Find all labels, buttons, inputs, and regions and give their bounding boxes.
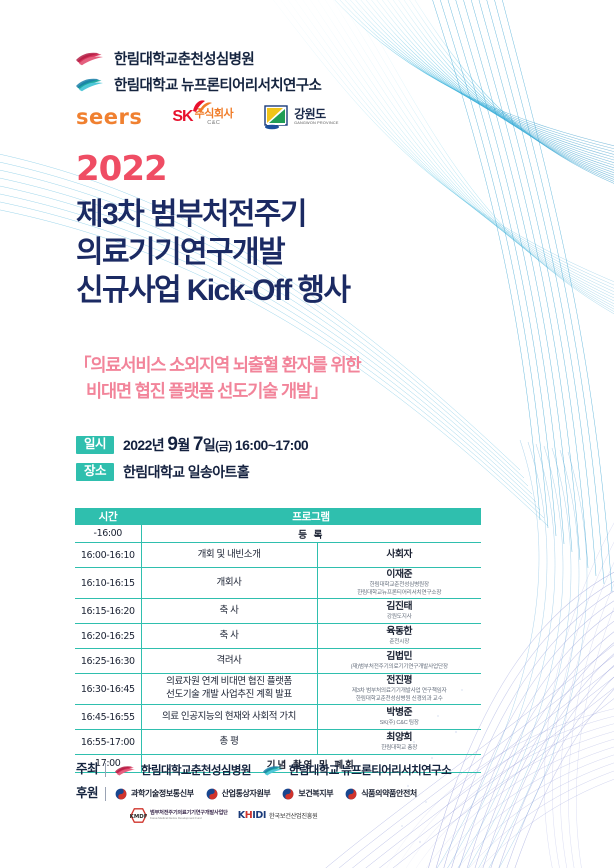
khidi-logo: KHIDI 한국보건산업진흥원 [238,810,318,821]
footer-sponsor-items: 과학기술정보통신부산업통상자원부보건복지부식품의약품안전처 [115,788,417,800]
sk-mark-label: SK [172,108,192,126]
newfrontier-swoosh-icon [76,77,106,92]
speaker-affiliation: 한림대학교춘천성심병원 신경외과 교수 [318,696,482,703]
kmdf-en-label: Korea Medical Device Development Fund [150,817,228,820]
footer-sponsor-name: 산업통상자원부 [222,788,271,799]
footer-host-name: 한림대학교춘천성심병원 [141,762,251,778]
footer-sponsor-item: 보건복지부 [282,788,333,800]
gangwon-emblem-icon [263,104,289,130]
speaker-affiliation: 한림대학교뉴프론티어리서치연구소장 [318,590,482,597]
speaker-affiliation: 한림대학교 총장 [318,745,482,752]
event-info: 일시 2022년 9월 7일(금) 16:00~17:00 장소 한림대학교 일… [76,434,308,488]
cell-time: 16:25-16:30 [75,649,141,674]
speaker-name: 이재준 [318,569,482,581]
table-row: -16:00등 록 [75,525,481,543]
poster-root: 한림대학교춘천성심병원 한림대학교 뉴프론티어리서치연구소 seers SK [0,0,614,868]
host-logo-item: 한림대학교 뉴프론티어리서치연구소 [76,74,321,95]
title-line-3: 신규사업 Kick-Off 행사 [76,272,349,310]
cell-speaker: 박병준SK(주) C&C 팀장 [317,705,481,730]
footer-sponsor-row: 후원 과학기술정보통신부산업통상자원부보건복지부식품의약품안전처 [76,787,546,801]
column-header-time: 시간 [75,509,141,525]
footer-sponsor-name: 과학기술정보통신부 [131,788,194,799]
kmdf-logo: KMDF 범부처전주기의료기기연구개발사업단 Korea Medical Dev… [130,808,228,823]
speaker-name: 최양희 [318,732,482,744]
event-place-row: 장소 한림대학교 일송아트홀 [76,462,308,482]
cell-speaker: 김진태강원도지사 [317,599,481,624]
date-tag-badge: 일시 [76,436,114,455]
cell-program: 격려사 [141,649,317,674]
government-taegeuk-icon [206,788,218,800]
cell-time: 16:30-16:45 [75,674,141,705]
date-day: 7 [193,434,203,455]
host-logo-label: 한림대학교춘천성심병원 [114,48,254,69]
cell-time: 16:55-17:00 [75,730,141,755]
speaker-affiliation: 춘천시장 [318,639,482,646]
event-date-row: 일시 2022년 9월 7일(금) 16:00~17:00 [76,434,308,456]
footer-agency-row: KMDF 범부처전주기의료기기연구개발사업단 Korea Medical Dev… [130,808,546,823]
date-day-unit: 일 [203,437,215,453]
government-taegeuk-icon [345,788,357,800]
footer-host-name: 한림대학교 뉴프론티어리서치연구소 [289,762,451,778]
cell-time: 16:10-16:15 [75,568,141,599]
footer-host-row: 주최 한림대학교춘천성심병원 [76,762,546,778]
footer-sponsor-item: 산업통상자원부 [206,788,271,800]
table-row: 16:15-16:20축 사김진태강원도지사 [75,599,481,624]
speaker-name: 김진태 [318,601,482,613]
sk-butterfly-icon [191,99,213,113]
footer: 주최 한림대학교춘천성심병원 [76,762,546,823]
khidi-mark-label: KHIDI [238,810,266,821]
event-place-value: 한림대학교 일송아트홀 [123,462,249,482]
speaker-name: 김법민 [318,651,482,663]
speaker-name: 육동한 [318,626,482,638]
host-logo-label: 한림대학교 뉴프론티어리서치연구소 [114,74,321,95]
cell-speaker: 전진평제3차 범부처의료기기개발사업 연구책임자한림대학교춘천성심병원 신경외과… [317,674,481,705]
cell-program: 축 사 [141,599,317,624]
program-table-body: -16:00등 록16:00-16:10개회 및 내빈소개사회자16:10-16… [75,525,481,773]
cell-program: 축 사 [141,624,317,649]
cell-time: -16:00 [75,525,141,543]
date-time: 16:00~17:00 [235,437,308,453]
cell-program: 개회사 [141,568,317,599]
subtitle-line-1: 「의료서비스 소외지역 뇌출혈 환자를 위한 [74,352,360,378]
gangwon-name-label: 강원도 [294,108,339,120]
cell-time: 16:20-16:25 [75,624,141,649]
speaker-name: 박병준 [318,707,482,719]
newfrontier-swoosh-icon [263,765,285,776]
column-header-program: 프로그램 [141,509,481,525]
date-year: 2022년 [123,437,164,453]
table-row: 16:45-16:55의료 인공지능의 현재와 사회적 가치박병준SK(주) C… [75,705,481,730]
footer-sponsor-item: 식품의약품안전처 [345,788,417,800]
table-row: 16:20-16:25축 사육동한춘천시장 [75,624,481,649]
speaker-affiliation: (재)범부처전주기의료기기연구개발사업단장 [318,664,482,671]
project-subtitle: 「의료서비스 소외지역 뇌출혈 환자를 위한 비대면 협진 플랫폼 선도기술 개… [74,352,360,405]
sk-cc-logo: SK 주식회사 C&C [172,108,233,126]
table-row: 16:25-16:30격려사김법민(재)범부처전주기의료기기연구개발사업단장 [75,649,481,674]
cell-program-full: 등 록 [141,525,481,543]
speaker-name: 전진평 [318,675,482,687]
speaker-affiliation: SK(주) C&C 팀장 [318,720,482,727]
footer-host-item: 한림대학교춘천성심병원 [115,762,251,778]
seers-logo: seers [76,105,142,129]
host-logo-block: 한림대학교춘천성심병원 한림대학교 뉴프론티어리서치연구소 [76,48,321,100]
event-date-value: 2022년 9월 7일(금) 16:00~17:00 [123,434,308,456]
cell-time: 16:15-16:20 [75,599,141,624]
footer-sponsor-name: 식품의약품안전처 [361,788,417,799]
table-row: 16:00-16:10개회 및 내빈소개사회자 [75,543,481,568]
svg-text:KMDF: KMDF [130,814,147,820]
khidi-kr-label: 한국보건산업진흥원 [269,811,318,820]
speaker-affiliation: 한림대학교춘천성심병원장 [318,582,482,589]
speaker-name: 사회자 [318,549,482,561]
date-month: 9 [167,434,177,455]
page-title: 제3차 범부처전주기 의료기기연구개발 신규사업 Kick-Off 행사 [76,196,349,310]
program-table: 시간 프로그램 -16:00등 록16:00-16:10개회 및 내빈소개사회자… [75,508,481,773]
host-logo-item: 한림대학교춘천성심병원 [76,48,321,69]
cell-program: 의료자원 연계 비대면 협진 플랫폼선도기술 개발 사업추진 계획 발표 [141,674,317,705]
footer-sponsor-item: 과학기술정보통신부 [115,788,194,800]
government-taegeuk-icon [115,788,127,800]
title-line-2: 의료기기연구개발 [76,234,349,272]
table-row: 16:55-17:00총 평최양희한림대학교 총장 [75,730,481,755]
footer-host-label: 주최 [76,763,106,777]
footer-host-item: 한림대학교 뉴프론티어리서치연구소 [263,762,451,778]
cell-program: 개회 및 내빈소개 [141,543,317,568]
event-year: 2022 [76,152,167,186]
subtitle-line-2: 비대면 협진 플랫폼 선도기술 개발」 [74,378,360,404]
place-tag-badge: 장소 [76,463,114,482]
sk-cc-label: C&C [207,121,220,127]
cell-program: 의료 인공지능의 현재와 사회적 가치 [141,705,317,730]
cell-speaker: 육동한춘천시장 [317,624,481,649]
table-row: 16:10-16:15개회사이재준한림대학교춘천성심병원장한림대학교뉴프론티어리… [75,568,481,599]
hallym-swoosh-icon [115,765,137,776]
speaker-affiliation: 제3차 범부처의료기기개발사업 연구책임자 [318,688,482,695]
gangwon-logo: 강원도 GANGWON PROVINCE [263,104,339,130]
gangwon-en-label: GANGWON PROVINCE [294,122,339,126]
hallym-swoosh-icon [76,51,106,66]
government-taegeuk-icon [282,788,294,800]
cell-program: 총 평 [141,730,317,755]
date-weekday: (금) [215,441,231,453]
cell-speaker: 사회자 [317,543,481,568]
footer-sponsor-label: 후원 [76,787,106,801]
cell-speaker: 이재준한림대학교춘천성심병원장한림대학교뉴프론티어리서치연구소장 [317,568,481,599]
title-line-1: 제3차 범부처전주기 [76,196,349,234]
program-table-wrap: 시간 프로그램 -16:00등 록16:00-16:10개회 및 내빈소개사회자… [75,508,481,773]
cell-time: 16:00-16:10 [75,543,141,568]
cell-speaker: 김법민(재)범부처전주기의료기기연구개발사업단장 [317,649,481,674]
program-table-header-row: 시간 프로그램 [75,509,481,525]
partner-logo-row: seers SK 주식회사 C&C [76,104,339,130]
footer-sponsor-name: 보건복지부 [298,788,333,799]
cell-speaker: 최양희한림대학교 총장 [317,730,481,755]
speaker-affiliation: 강원도지사 [318,614,482,621]
cell-time: 16:45-16:55 [75,705,141,730]
table-row: 16:30-16:45의료자원 연계 비대면 협진 플랫폼선도기술 개발 사업추… [75,674,481,705]
kmdf-hexagon-icon: KMDF [130,808,147,823]
date-month-unit: 월 [177,437,189,453]
